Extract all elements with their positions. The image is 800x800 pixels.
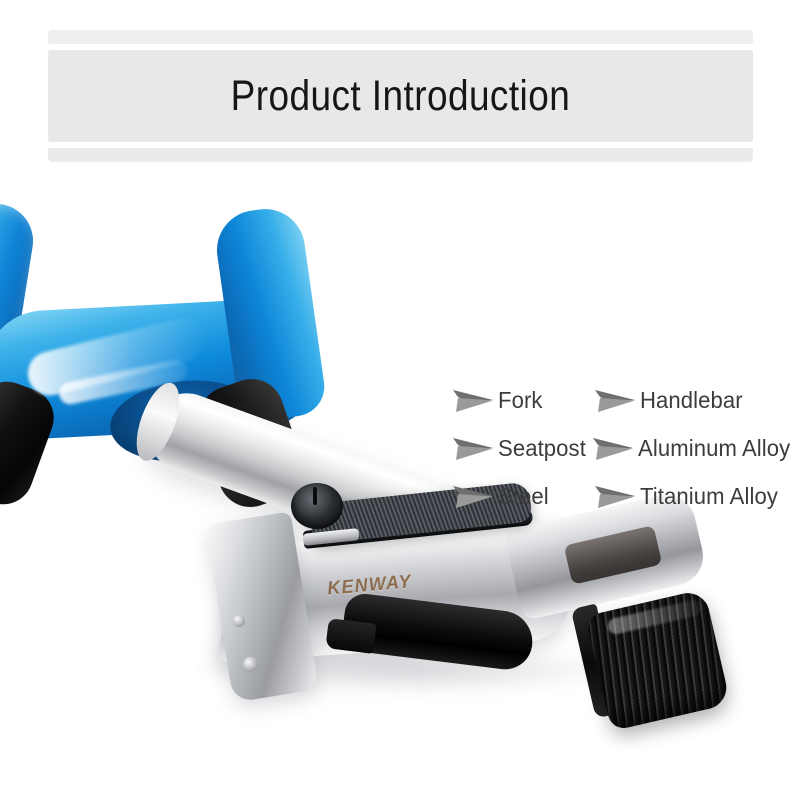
feature-item-fork: Fork — [452, 387, 544, 414]
arrow-bullet-icon — [592, 436, 634, 462]
feature-label: Seatpost — [498, 435, 586, 462]
feature-label: Steel — [498, 483, 549, 510]
arrow-bullet-icon — [452, 436, 494, 462]
feature-row: Steel Titanium Alloy — [452, 483, 800, 531]
feature-item-steel: Steel — [452, 483, 551, 510]
feature-item-titanium-alloy: Titanium Alloy — [594, 483, 784, 510]
page-title: Product Introduction — [231, 75, 571, 118]
arrow-bullet-icon — [452, 388, 494, 414]
cutter-jaw-rivet-secondary — [233, 615, 245, 627]
feature-item-aluminum-alloy: Aluminum Alloy — [592, 435, 797, 462]
feature-label: Aluminum Alloy — [638, 435, 790, 462]
feature-list: Fork Handlebar Seatpost — [452, 387, 800, 531]
feature-label: Titanium Alloy — [640, 483, 778, 510]
header-title-bar: Product Introduction — [48, 50, 753, 142]
cutter-jaw-rivet — [243, 657, 258, 672]
arrow-bullet-icon — [594, 388, 636, 414]
feature-label: Fork — [498, 387, 543, 414]
header-accent-bar-top — [48, 30, 753, 44]
feature-item-handlebar: Handlebar — [594, 387, 747, 414]
feature-label: Handlebar — [640, 387, 743, 414]
feature-item-seatpost: Seatpost — [452, 435, 590, 462]
cutter-wheel-slot — [313, 487, 317, 505]
product-introduction-page: Product Introduction — [0, 0, 800, 800]
cutter-reamer-tip — [325, 618, 376, 654]
feature-row: Fork Handlebar — [452, 387, 800, 435]
header-accent-bar-bottom — [48, 148, 753, 162]
cutter-wheel — [291, 483, 343, 529]
arrow-bullet-icon — [452, 484, 494, 510]
product-photo: KENWAY Fork Handlebar — [0, 175, 800, 800]
arrow-bullet-icon — [594, 484, 636, 510]
feature-row: Seatpost Aluminum Alloy — [452, 435, 800, 483]
